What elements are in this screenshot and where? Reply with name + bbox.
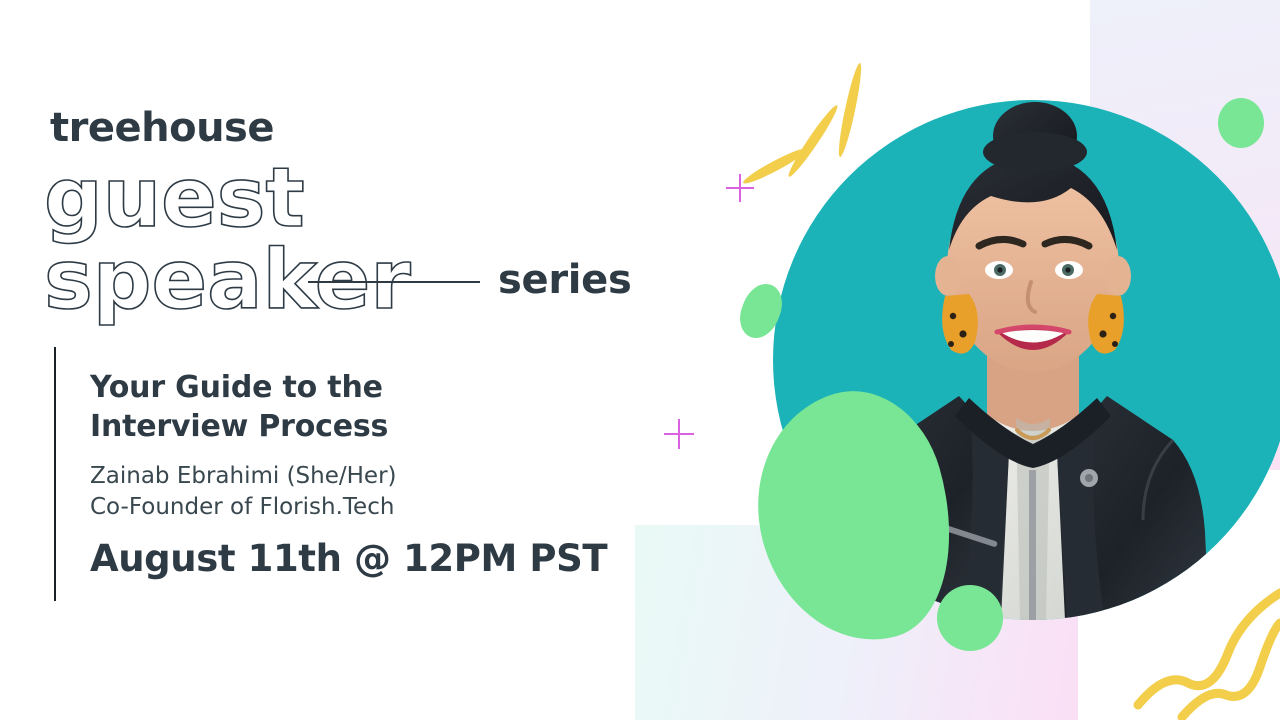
series-row: series (308, 258, 628, 304)
wavy-lines (1130, 575, 1280, 720)
green-circle-small (937, 585, 1003, 651)
info-vertical-rule (54, 347, 56, 601)
event-datetime: August 11th @ 12PM PST (90, 536, 607, 582)
series-word: series (498, 258, 632, 302)
brand-name: treehouse (50, 108, 274, 148)
promo-graphic: treehouse guest speaker series Your Guid… (0, 0, 1280, 720)
green-circle-top-right (1218, 98, 1264, 148)
plus-mark-middle (664, 419, 694, 449)
speaker-name: Zainab Ebrahimi (She/Her) (90, 461, 397, 491)
text-column: treehouse guest speaker series Your Guid… (0, 0, 660, 720)
session-title: Your Guide to the Interview Process (90, 368, 510, 446)
speaker-role: Co-Founder of Florish.Tech (90, 492, 394, 522)
series-divider-rule (308, 281, 480, 283)
